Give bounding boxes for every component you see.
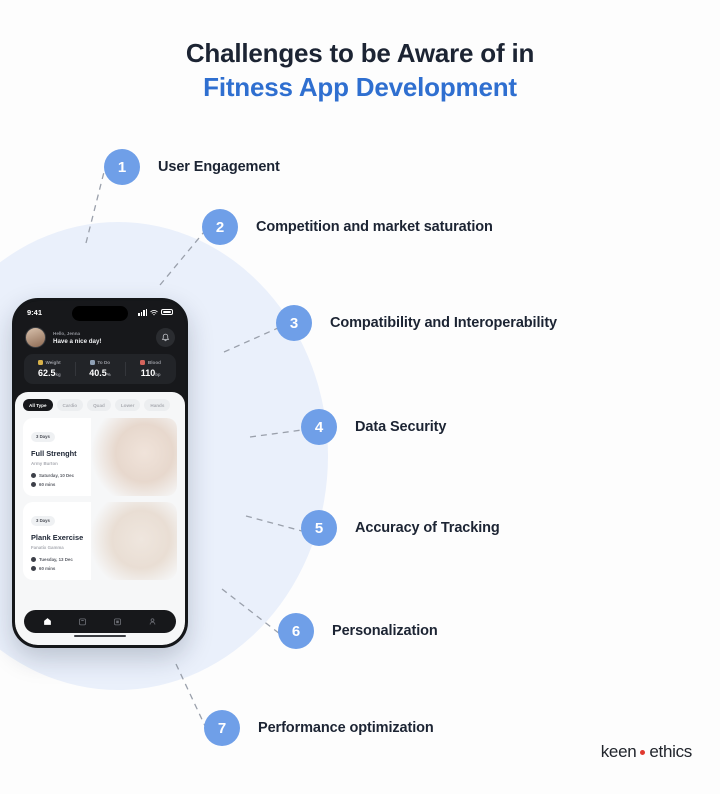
stat-value: 110bp (125, 368, 176, 378)
page-title: Challenges to be Aware of in Fitness App… (0, 36, 720, 105)
list-item-2: 2 Competition and market saturation (202, 209, 493, 245)
workout-duration: 60 mins (39, 482, 55, 487)
stat-blood: Blood 110bp (125, 360, 176, 378)
keen-ethics-logo: keen ethics (601, 742, 692, 762)
workout-duration: 60 mins (39, 566, 55, 571)
number-badge: 3 (276, 305, 312, 341)
dynamic-island (72, 306, 128, 321)
greeting-message: Have a nice day! (53, 338, 156, 345)
number-badge: 7 (204, 710, 240, 746)
clock-icon (31, 482, 36, 487)
phone-screen: 9:41 Hello, Jenna Have a nice day! (15, 301, 185, 645)
greeting-name: Hello, Jenna (53, 331, 156, 336)
stats-row: Weight 62.5kg To Do 40.5% Blood (24, 354, 176, 384)
stats-icon (113, 617, 122, 626)
bell-icon (161, 333, 170, 342)
stat-value: 40.5% (75, 368, 126, 378)
logo-ethics-text: ethics (649, 742, 692, 762)
item-label: Competition and market saturation (256, 219, 493, 235)
nav-home[interactable] (42, 616, 53, 627)
chip-cardio[interactable]: Cardio (57, 399, 84, 411)
bottom-nav-wrap (15, 605, 185, 646)
clock-icon (31, 566, 36, 571)
workout-days-badge: 3 Days (31, 516, 55, 526)
workout-date: Saturday, 10 Dec (39, 473, 74, 478)
stat-weight: Weight 62.5kg (24, 360, 75, 378)
item-label: Personalization (332, 623, 438, 639)
wifi-icon (150, 309, 158, 316)
calendar-icon (31, 557, 36, 562)
todo-icon (90, 360, 95, 365)
chip-hands[interactable]: Hands (144, 399, 170, 411)
chip-lower[interactable]: Lower (115, 399, 141, 411)
number-badge: 1 (104, 149, 140, 185)
workout-photo (91, 502, 177, 580)
stat-number: 62.5 (38, 368, 56, 378)
stat-label: Blood (148, 360, 161, 365)
item-label: Accuracy of Tracking (355, 520, 500, 536)
item-label: Data Security (355, 419, 446, 435)
status-time: 9:41 (27, 308, 42, 317)
profile-icon (148, 617, 157, 626)
stat-value: 62.5kg (24, 368, 75, 378)
list-item-6: 6 Personalization (278, 613, 438, 649)
nav-profile[interactable] (147, 616, 158, 627)
workout-list: 3 Days Full Strenght Army Burton Saturda… (15, 418, 185, 605)
filter-chips: All Type Cardio Quad Lower Hands (15, 399, 185, 418)
phone-mockup: 9:41 Hello, Jenna Have a nice day! (12, 298, 188, 648)
item-label: Compatibility and Interoperability (330, 315, 557, 331)
content-sheet: All Type Cardio Quad Lower Hands 3 Days … (15, 392, 185, 645)
stat-label: Weight (45, 360, 60, 365)
signal-icon (138, 309, 147, 316)
logo-dot-icon (640, 750, 645, 755)
stat-label: To Do (97, 360, 110, 365)
workout-card[interactable]: 3 Days Full Strenght Army Burton Saturda… (23, 418, 177, 496)
number-badge: 5 (301, 510, 337, 546)
stat-number: 110 (141, 368, 156, 378)
list-item-3: 3 Compatibility and Interoperability (276, 305, 557, 341)
number-badge: 4 (301, 409, 337, 445)
stat-header: Weight (24, 360, 75, 365)
weight-icon (38, 360, 43, 365)
title-line-1: Challenges to be Aware of in (0, 36, 720, 70)
status-bar: 9:41 (15, 301, 185, 323)
calendar-icon (78, 617, 87, 626)
workout-card[interactable]: 3 Days Plank Exercise Fanatix Gamma Tues… (23, 502, 177, 580)
item-label: Performance optimization (258, 720, 434, 736)
chip-all-type[interactable]: All Type (23, 399, 53, 411)
battery-icon (161, 309, 173, 315)
chip-quad[interactable]: Quad (87, 399, 111, 411)
infographic-canvas: Challenges to be Aware of in Fitness App… (0, 0, 720, 794)
nav-stats[interactable] (112, 616, 123, 627)
stat-header: Blood (125, 360, 176, 365)
number-badge: 2 (202, 209, 238, 245)
list-item-5: 5 Accuracy of Tracking (301, 510, 500, 546)
logo-keen-text: keen (601, 742, 637, 762)
nav-calendar[interactable] (77, 616, 88, 627)
stat-unit: kg (56, 372, 61, 377)
home-indicator (74, 635, 126, 638)
stat-todo: To Do 40.5% (75, 360, 126, 378)
list-item-4: 4 Data Security (301, 409, 446, 445)
stat-header: To Do (75, 360, 126, 365)
title-line-2: Fitness App Development (0, 70, 720, 104)
stat-unit: bp (155, 372, 160, 377)
workout-date: Tuesday, 13 Dec (39, 557, 73, 562)
bottom-nav (24, 610, 176, 633)
item-label: User Engagement (158, 159, 280, 175)
stat-number: 40.5 (89, 368, 107, 378)
greeting-row: Hello, Jenna Have a nice day! (15, 323, 185, 354)
workout-days-badge: 3 Days (31, 432, 55, 442)
status-icons (138, 309, 173, 316)
list-item-1: 1 User Engagement (104, 149, 280, 185)
blood-icon (140, 360, 145, 365)
avatar (25, 327, 46, 348)
calendar-icon (31, 473, 36, 478)
number-badge: 6 (278, 613, 314, 649)
notification-button[interactable] (156, 328, 175, 347)
workout-photo (91, 418, 177, 496)
home-icon (43, 617, 52, 626)
list-item-7: 7 Performance optimization (204, 710, 434, 746)
greeting-text: Hello, Jenna Have a nice day! (53, 331, 156, 345)
stat-unit: % (107, 372, 111, 377)
